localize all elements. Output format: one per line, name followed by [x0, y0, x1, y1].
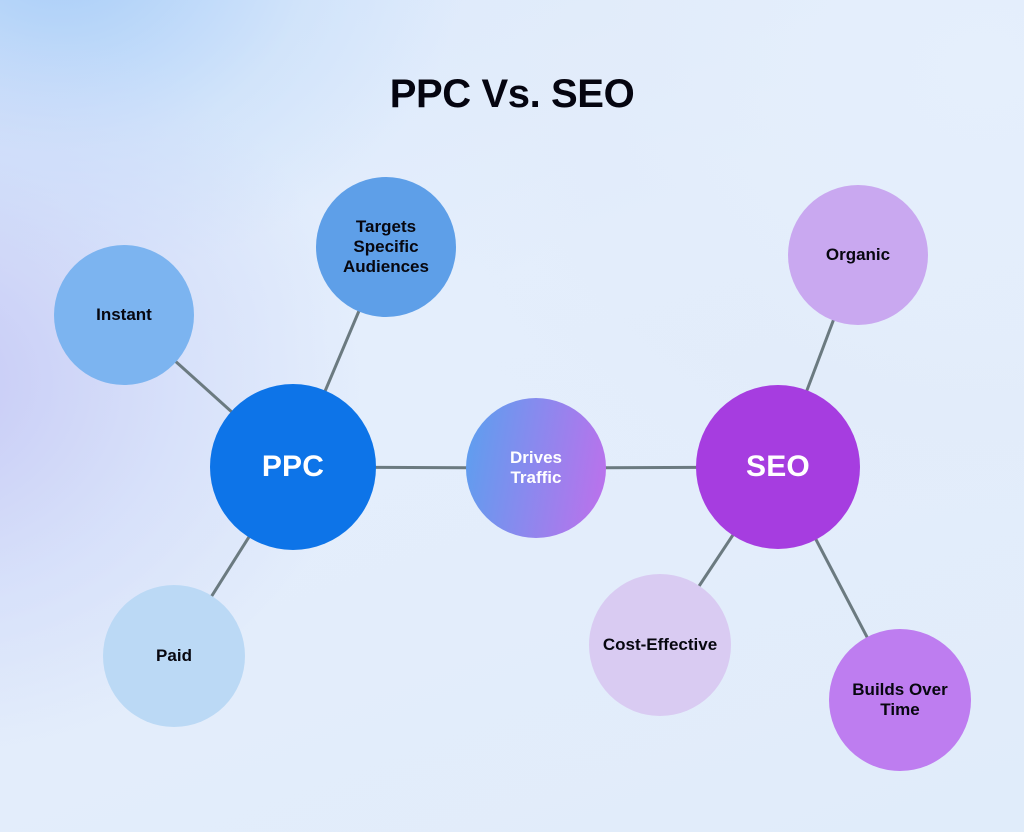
- node-targets-specific-audiences[interactable]: Targets Specific Audiences: [316, 177, 456, 317]
- node-targets-specific-audiences-label: Targets Specific Audiences: [339, 217, 433, 276]
- node-organic[interactable]: Organic: [788, 185, 928, 325]
- connector-instant-to-ppc: [175, 360, 233, 412]
- node-ppc-label: PPC: [258, 450, 328, 485]
- node-builds-over-time-label: Builds Over Time: [848, 680, 951, 719]
- mindmap-canvas: PPC Vs. SEO Instant Targets Specific Aud…: [0, 0, 1024, 832]
- connector-paid-to-ppc: [211, 536, 250, 598]
- node-drives-traffic-label: Drives Traffic: [506, 448, 566, 487]
- node-instant[interactable]: Instant: [54, 245, 194, 385]
- node-instant-label: Instant: [92, 305, 156, 325]
- node-ppc[interactable]: PPC: [210, 384, 376, 550]
- connector-targets_specific_audiences-to-ppc: [325, 310, 360, 393]
- node-paid-label: Paid: [152, 646, 196, 666]
- node-drives-traffic[interactable]: Drives Traffic: [466, 398, 606, 538]
- connector-seo-to-builds_over_time: [815, 538, 868, 639]
- node-cost-effective-label: Cost-Effective: [599, 635, 721, 655]
- node-paid[interactable]: Paid: [103, 585, 245, 727]
- page-title: PPC Vs. SEO: [0, 72, 1024, 117]
- node-organic-label: Organic: [822, 245, 894, 265]
- connector-seo-to-organic: [806, 319, 834, 393]
- node-seo-label: SEO: [742, 450, 814, 485]
- node-cost-effective[interactable]: Cost-Effective: [589, 574, 731, 716]
- node-seo[interactable]: SEO: [696, 385, 860, 549]
- connector-seo-to-cost_effective: [698, 534, 734, 588]
- node-builds-over-time[interactable]: Builds Over Time: [829, 629, 971, 771]
